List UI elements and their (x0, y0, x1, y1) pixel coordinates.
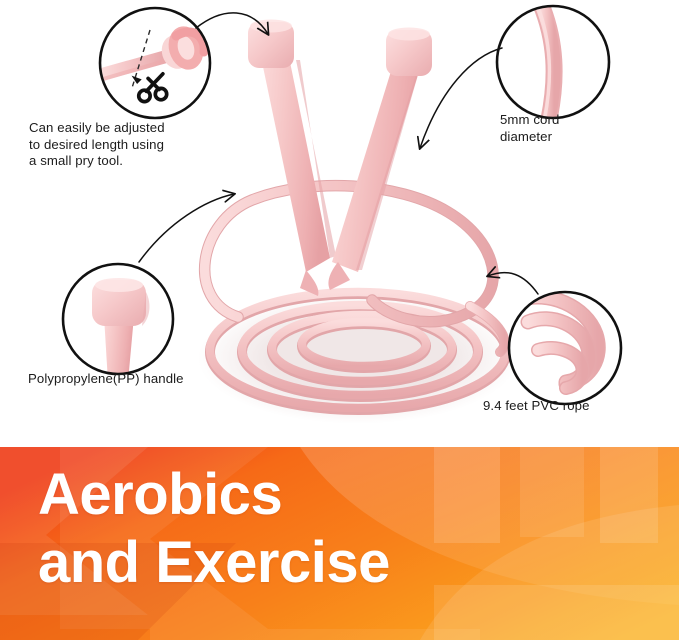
callout-text-cord: 5mm cord diameter (500, 112, 620, 145)
callout-circle-cord (497, 2, 609, 124)
callout-circle-adjust (100, 8, 210, 118)
callout-circle-rope (509, 292, 621, 404)
category-banner: Aerobics and Exercise (0, 447, 679, 640)
callout-text-handle: Polypropylene(PP) handle (28, 371, 268, 388)
product-infographic-area: Can easily be adjusted to desired length… (0, 0, 679, 447)
handle-left (248, 20, 336, 297)
callout-circle-handle (63, 264, 173, 382)
handle-right (328, 28, 432, 291)
callout-text-adjust: Can easily be adjusted to desired length… (29, 120, 244, 170)
callout-text-rope: 9.4 feet PVC rope (483, 398, 673, 415)
banner-title: Aerobics and Exercise (38, 461, 598, 597)
infographic-page: Can easily be adjusted to desired length… (0, 0, 679, 640)
arrow-cord-to-rope (420, 48, 502, 148)
